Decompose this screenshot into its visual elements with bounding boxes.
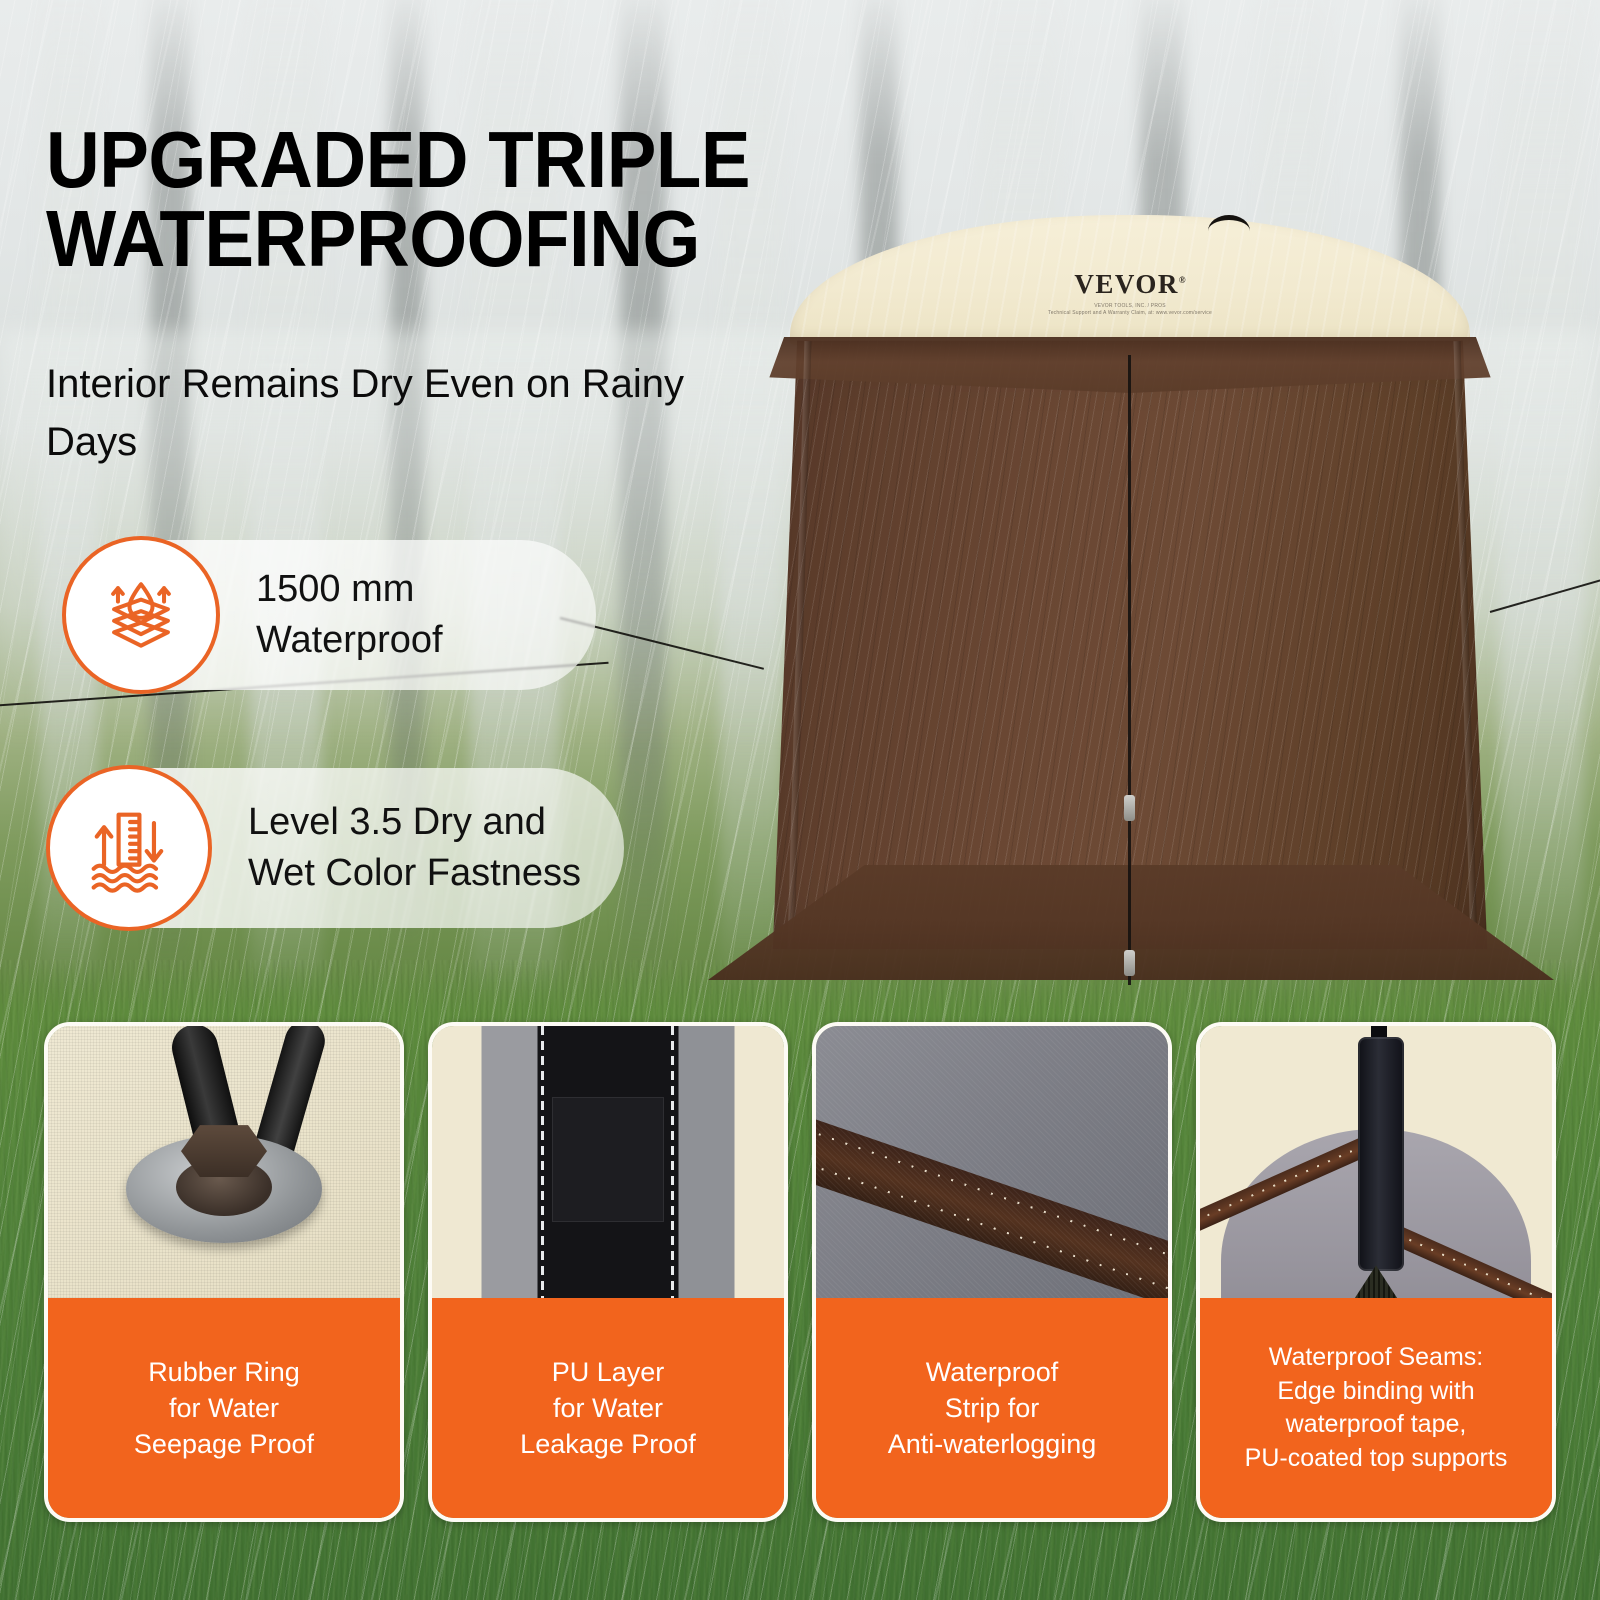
- pu-layer-seam-photo: [432, 1026, 784, 1298]
- detail-card-caption: Waterproof Strip for Anti-waterlogging: [816, 1298, 1168, 1518]
- caption-line: PU-coated top supports: [1245, 1442, 1508, 1476]
- vevor-logo-subtext: VEVOR TOOLS, INC. / PROS Technical Suppo…: [790, 303, 1470, 317]
- caption-line: Waterproof: [888, 1354, 1097, 1390]
- page-subheadline: Interior Remains Dry Even on Rainy Days: [46, 356, 686, 471]
- feature-2-line-2: Wet Color Fastness: [248, 848, 581, 899]
- color-fastness-glyph: [77, 796, 181, 900]
- zipper-pull-lower: [1124, 950, 1135, 976]
- pu-coated-pole-sleeve: [1358, 1037, 1404, 1271]
- stitch-line-left: [541, 1026, 544, 1298]
- vevor-logo-text: VEVOR: [1074, 269, 1178, 299]
- tent-door-zipper: [1128, 355, 1131, 985]
- caption-line: waterproof tape,: [1245, 1408, 1508, 1442]
- feature-pill-waterproof: 1500 mm Waterproof: [78, 540, 596, 690]
- waterproof-strip: [816, 1104, 1168, 1298]
- feature-pill-waterproof-text: 1500 mm Waterproof: [256, 564, 443, 666]
- vevor-logo: VEVOR®: [790, 269, 1470, 300]
- caption-line: Strip for: [888, 1390, 1097, 1426]
- color-fastness-gauge-icon: [46, 765, 212, 931]
- brand-sub-line-1: VEVOR TOOLS, INC. / PROS: [790, 303, 1470, 310]
- pu-coated-fabric: [432, 1026, 784, 1298]
- detail-cards-row: Rubber Ring for Water Seepage Proof PU L…: [44, 1022, 1556, 1522]
- waterproof-layers-glyph: [93, 567, 189, 663]
- rubber-ring-grommet-photo: [48, 1026, 400, 1298]
- headline-line-2: WATERPROOFING: [46, 199, 781, 278]
- tent-peak-underside: [1200, 1026, 1552, 1298]
- detail-card-caption: Waterproof Seams: Edge binding with wate…: [1200, 1298, 1552, 1518]
- detail-card: PU Layer for Water Leakage Proof: [428, 1022, 788, 1522]
- caption-line: PU Layer: [520, 1354, 696, 1390]
- caption-line: Waterproof Seams:: [1245, 1341, 1508, 1375]
- detail-card: Waterproof Strip for Anti-waterlogging: [812, 1022, 1172, 1522]
- detail-card-caption: Rubber Ring for Water Seepage Proof: [48, 1298, 400, 1518]
- caption-line: Rubber Ring: [134, 1354, 314, 1390]
- headline-line-1: UPGRADED TRIPLE: [46, 120, 781, 199]
- pu-panel: [552, 1097, 665, 1222]
- brand-sub-line-2: Technical Support and A Warranty Claim, …: [790, 310, 1470, 317]
- page-headline: UPGRADED TRIPLE WATERPROOFING: [46, 120, 781, 278]
- waterproof-seams-peak-photo: [1200, 1026, 1552, 1298]
- registered-mark: ®: [1179, 275, 1186, 285]
- waterproof-strip-photo: [816, 1026, 1168, 1298]
- feature-1-line-1: 1500 mm: [256, 564, 443, 615]
- feature-2-line-1: Level 3.5 Dry and: [248, 797, 581, 848]
- stitch-line-right: [671, 1026, 674, 1298]
- caption-line: Seepage Proof: [134, 1426, 314, 1462]
- detail-card: Rubber Ring for Water Seepage Proof: [44, 1022, 404, 1522]
- caption-line: Anti-waterlogging: [888, 1426, 1097, 1462]
- grey-coated-fabric: [816, 1026, 1168, 1298]
- strip-stitch-top: [816, 1115, 1168, 1268]
- feature-pill-color-fastness: Level 3.5 Dry and Wet Color Fastness: [62, 768, 624, 928]
- feature-pill-color-fastness-text: Level 3.5 Dry and Wet Color Fastness: [248, 797, 581, 899]
- caption-line: Leakage Proof: [520, 1426, 696, 1462]
- feature-1-line-2: Waterproof: [256, 615, 443, 666]
- caption-line: for Water: [520, 1390, 696, 1426]
- detail-card-caption: PU Layer for Water Leakage Proof: [432, 1298, 784, 1518]
- caption-line: for Water: [134, 1390, 314, 1426]
- product-tent: VEVOR® VEVOR TOOLS, INC. / PROS Technica…: [690, 205, 1570, 995]
- zipper-pull-upper: [1124, 795, 1135, 821]
- tent-canopy-top: VEVOR® VEVOR TOOLS, INC. / PROS Technica…: [790, 215, 1470, 345]
- detail-card: Waterproof Seams: Edge binding with wate…: [1196, 1022, 1556, 1522]
- waterproof-layers-icon: [62, 536, 220, 694]
- strip-stitch-bottom: [816, 1145, 1168, 1298]
- caption-line: Edge binding with: [1245, 1375, 1508, 1409]
